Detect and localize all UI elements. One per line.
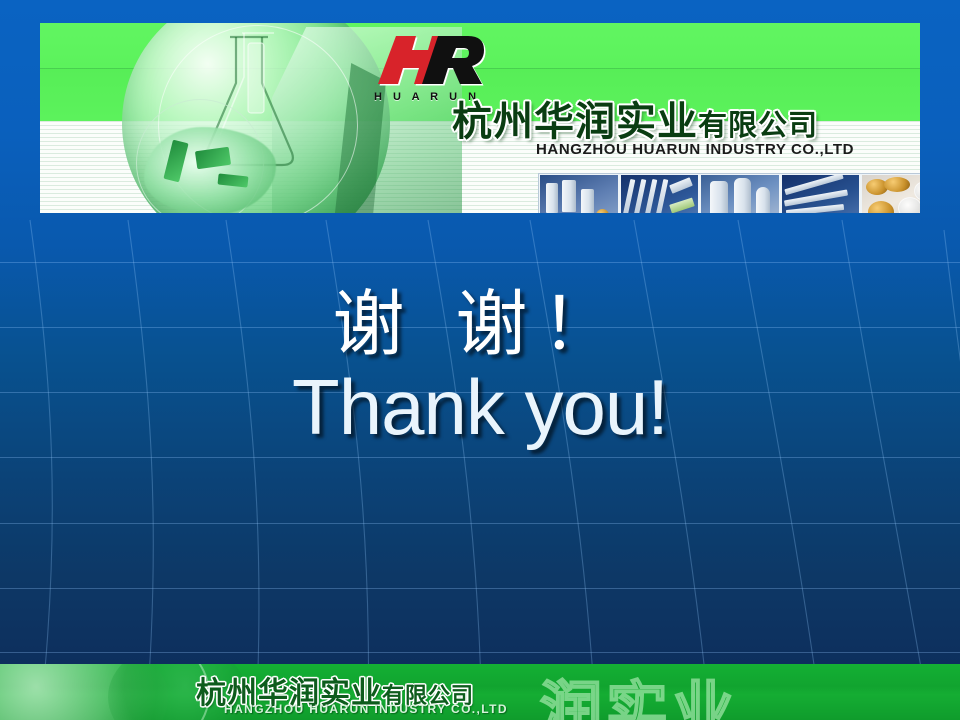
footer-company-name-en: HANGZHOU HUARUN INDUSTRY CO.,LTD	[224, 702, 508, 716]
main-message-block: 谢 谢！ Thank you!	[0, 286, 960, 446]
product-photo-pump-spray-bottles	[540, 175, 618, 213]
banner-company-name-cn: 杭州华润实业有限公司	[452, 89, 818, 147]
product-photo-amber-jars	[862, 175, 920, 213]
thank-you-english: Thank you!	[0, 368, 960, 446]
company-name-cn-main: 杭州华润实业	[452, 99, 698, 145]
footer-bar: 润实业 杭州华润实业有限公司 HANGZHOU HUARUN INDUSTRY …	[0, 664, 960, 720]
footer-decorative-arc	[0, 664, 210, 720]
thank-you-chinese: 谢 谢！	[0, 286, 960, 362]
company-name-cn-suffix: 有限公司	[698, 108, 818, 142]
product-photo-prefilled-syringes	[782, 175, 860, 213]
product-photo-dropper-bottles	[701, 175, 779, 213]
hand-holding-product	[144, 127, 276, 213]
product-photo-strip	[538, 173, 920, 213]
footer-ghost-watermark: 润实业	[540, 664, 738, 720]
banner-company-name-en: HANGZHOU HUARUN INDUSTRY CO.,LTD	[536, 141, 854, 158]
header-banner: H U A R U N 杭州华润实业有限公司 HANGZHOU HUARUN I…	[40, 23, 920, 213]
slide-canvas: H U A R U N 杭州华润实业有限公司 HANGZHOU HUARUN I…	[0, 0, 960, 720]
product-photo-syringe-line	[621, 175, 699, 213]
